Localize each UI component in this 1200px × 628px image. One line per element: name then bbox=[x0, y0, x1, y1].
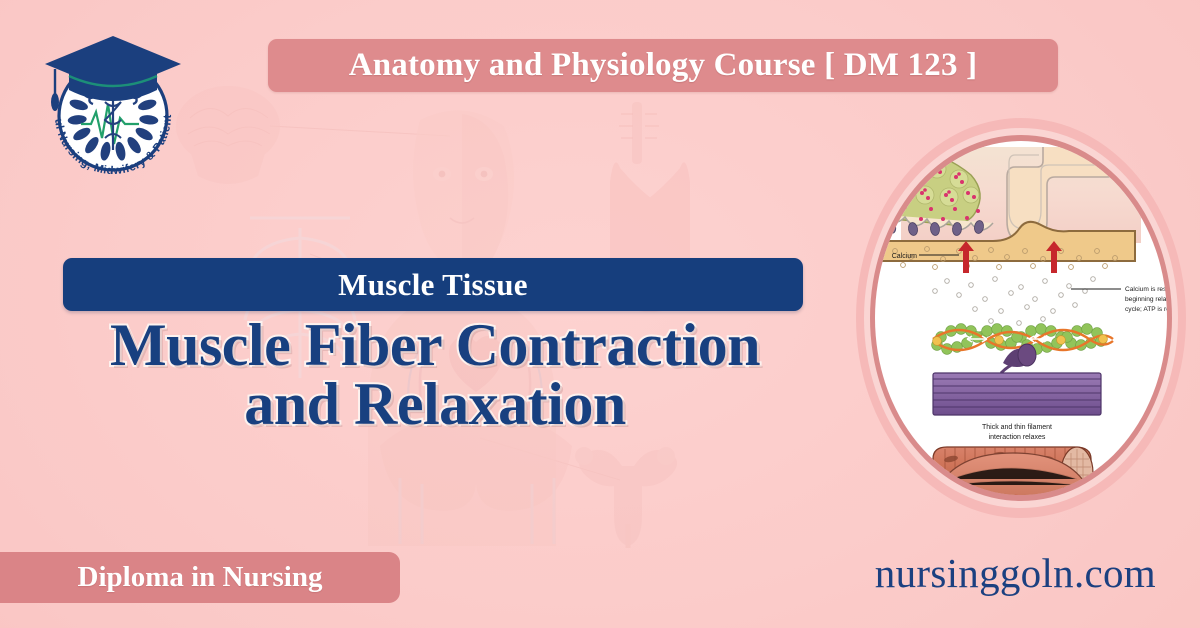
course-banner: Anatomy and Physiology Course [ DM 123 ] bbox=[268, 39, 1058, 92]
calcium-resorbed-line-1: Calcium is resorbed, bbox=[1125, 286, 1167, 293]
thick-filament-myosin bbox=[933, 344, 1101, 415]
website-url: nursinggoln.com bbox=[875, 549, 1156, 597]
subtitle-chip: Muscle Tissue bbox=[63, 258, 803, 311]
calcium-ions bbox=[933, 277, 1096, 326]
filament-label-line-2: interaction relaxes bbox=[989, 434, 1046, 441]
filament-label-line-1: Thick and thin filament bbox=[982, 424, 1052, 431]
filament-label: Thick and thin filament interaction rela… bbox=[982, 424, 1052, 441]
muscle-fiber-cylinder bbox=[881, 447, 1143, 495]
illustration-frame: Calcium Calcium is resorbed, beginning r… bbox=[856, 118, 1186, 518]
poster-canvas: Gurukul Nursing, Midwifery & Patient Car… bbox=[0, 0, 1200, 628]
calcium-resorbed-line-3: cycle; ATP is required bbox=[1125, 306, 1167, 313]
calcium-resorbed-line-2: beginning relaxation bbox=[1125, 296, 1167, 303]
uterus-watermark bbox=[575, 447, 677, 548]
page-title-line-2: and Relaxation bbox=[40, 375, 830, 434]
subtitle-chip-label: Muscle Tissue bbox=[338, 267, 528, 303]
page-title-line-1: Muscle Fiber Contraction bbox=[40, 316, 830, 375]
calcium-resorbed-label: Calcium is resorbed, beginning relaxatio… bbox=[1071, 286, 1167, 313]
muscle-lengthens-line-2: and rel bbox=[1131, 488, 1153, 495]
program-pill-label: Diploma in Nursing bbox=[78, 561, 323, 594]
course-banner-label: Anatomy and Physiology Course [ DM 123 ] bbox=[349, 47, 978, 84]
page-title: Muscle Fiber Contraction and Relaxation bbox=[40, 316, 830, 435]
muscle-fiber-relaxation-diagram: Calcium Calcium is resorbed, beginning r… bbox=[875, 141, 1167, 495]
calcium-label-text: Calcium bbox=[892, 253, 917, 260]
gurukul-nursing-logo: Gurukul Nursing, Midwifery & Patient Car… bbox=[33, 28, 193, 188]
muscle-lengthens-line-1: Muscle len bbox=[1131, 478, 1165, 485]
program-pill: Diploma in Nursing bbox=[0, 552, 400, 603]
